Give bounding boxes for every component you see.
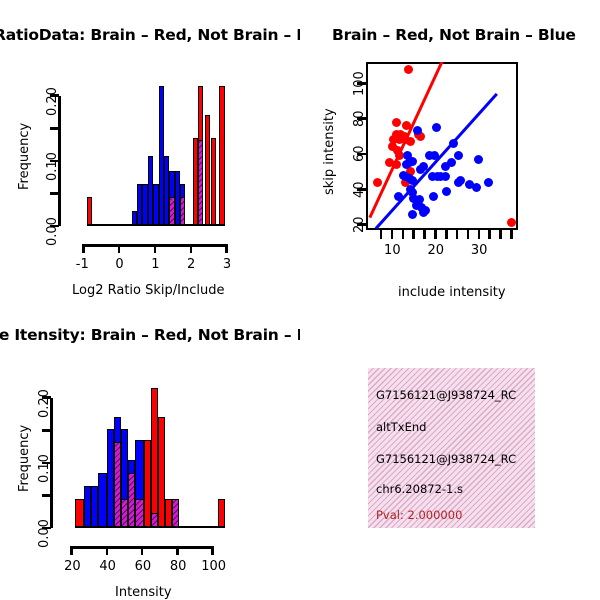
info-line-locus: chr6.20872-1.s [376, 482, 463, 496]
x-axis-tick-label: -1 [76, 257, 89, 272]
scatter-x-axis-tick-label: 20 [427, 243, 444, 258]
histogram-bar [180, 197, 185, 226]
histogram-baseline [75, 526, 225, 528]
scatter-point [447, 158, 456, 167]
histogram-bar [98, 473, 107, 528]
histogram-bar [198, 140, 203, 226]
histogram-bar [84, 486, 91, 528]
scatter-point [442, 187, 451, 196]
scatter-data-layer [366, 62, 518, 230]
x-axis-tick-label: 3 [223, 257, 231, 272]
scatter-y-axis-tick [357, 82, 366, 85]
y-axis-major-tick [50, 225, 59, 228]
info-line-pval: Pval: 2.000000 [376, 508, 462, 522]
info-line-event-type: altTxEnd [376, 420, 426, 434]
scatter-x-axis-tick [391, 230, 394, 239]
histogram-bar [128, 473, 135, 528]
scatter-y-axis-tick [357, 223, 366, 226]
scatter-x-axis-tick [499, 230, 502, 239]
x-axis-tick-label: 60 [135, 559, 152, 574]
histogram-bar [169, 197, 174, 226]
scatter-point [392, 160, 401, 169]
scatter-point [373, 178, 382, 187]
scatter-point [404, 65, 413, 74]
x-axis-tick-label: 1 [151, 257, 159, 272]
scatter-x-axis-tick [423, 230, 426, 239]
scatter-x-axis-tick [467, 230, 470, 239]
x-axis-tick [82, 244, 85, 253]
x-axis-tick [118, 244, 121, 253]
info-line-probe-id-2: G7156121@J938724_RC [376, 452, 516, 466]
scatter-y-axis-tick [357, 153, 366, 156]
histogram-bar [75, 499, 84, 528]
y-axis-major-tick [50, 94, 59, 97]
scatter-x-axis-tick [380, 230, 383, 239]
histogram-bar [144, 440, 151, 528]
y-axis-major-tick [50, 160, 59, 163]
x-axis-tick [190, 244, 193, 253]
annotation-info-box: G7156121@J938724_RC altTxEnd G7156121@J9… [368, 368, 535, 528]
scatter-x-axis-tick-label: 30 [471, 243, 488, 258]
x-axis-tick-label: 80 [170, 559, 187, 574]
scatter-point [392, 118, 401, 127]
scatter-x-axis-tick [488, 230, 491, 239]
scatter-x-axis-tick [510, 230, 513, 239]
y-axis-major-tick [42, 462, 51, 465]
y-axis-major-tick [42, 527, 51, 530]
histogram-bar [107, 429, 114, 528]
histogram-bar [151, 388, 158, 528]
y-axis-minor-tick [42, 494, 51, 497]
histogram-baseline [87, 224, 225, 226]
histogram-bar [158, 417, 165, 528]
histogram-bar [135, 499, 144, 528]
scatter-point [429, 192, 438, 201]
histogram-bar [218, 499, 225, 528]
histogram-bar [219, 86, 224, 226]
histogram-bar [165, 499, 172, 528]
scatter-point [408, 210, 417, 219]
scatter-point [408, 176, 417, 185]
y-axis-major-tick [42, 396, 51, 399]
x-axis-tick-label: 2 [187, 257, 195, 272]
x-axis-tick [154, 244, 157, 253]
scatter-point [507, 218, 516, 227]
scatter-x-axis-tick [456, 230, 459, 239]
scatter-point [395, 151, 404, 160]
ratio-histogram-panel: RatioData: Brain – Red, Not Brain – Blu … [0, 0, 300, 300]
scatter-plot-area: 20406080100102030 [300, 0, 600, 300]
scatter-x-axis-tick [434, 230, 437, 239]
scatter-panel: Brain – Red, Not Brain – Blue skip inten… [300, 0, 600, 300]
x-axis-tick [176, 546, 179, 555]
y-axis-minor-tick [50, 127, 59, 130]
x-axis-tick [141, 546, 144, 555]
histogram-bar [211, 138, 216, 226]
scatter-point [474, 155, 483, 164]
ratio-histogram-plot-area: 0.000.100.20-10123 [0, 0, 300, 300]
y-axis-minor-tick [42, 429, 51, 432]
histogram-bar [121, 499, 128, 528]
scatter-x-axis-tick [445, 230, 448, 239]
scatter-x-axis-tick-label: 10 [384, 243, 401, 258]
scatter-point [472, 183, 481, 192]
histogram-bar [114, 442, 121, 528]
scatter-point [441, 172, 450, 181]
x-axis-tick [211, 546, 214, 555]
scatter-point [406, 137, 415, 146]
scatter-point [484, 178, 493, 187]
scatter-point [394, 192, 403, 201]
scatter-point [456, 176, 465, 185]
x-axis-tick-label: 100 [201, 559, 226, 574]
x-axis-tick [106, 546, 109, 555]
x-axis-tick [70, 546, 73, 555]
histogram-bar [87, 197, 92, 226]
scatter-x-axis-tick [412, 230, 415, 239]
x-axis-tick-label: 40 [99, 559, 116, 574]
scatter-y-axis-tick [357, 188, 366, 191]
scatter-x-axis-tick [402, 230, 405, 239]
scatter-point [419, 208, 428, 217]
scatter-point [432, 123, 441, 132]
x-axis-tick-label: 20 [64, 559, 81, 574]
info-line-probe-id-1: G7156121@J938724_RC [376, 388, 516, 402]
scatter-y-axis-tick [357, 117, 366, 120]
x-axis-tick-label: 0 [115, 257, 123, 272]
histogram-bar [172, 499, 179, 528]
x-axis-tick [225, 244, 228, 253]
scatter-x-axis-tick [478, 230, 481, 239]
intensity-histogram-plot-area: 0.000.100.2020406080100 [0, 300, 300, 600]
scatter-point [454, 151, 463, 160]
intensity-histogram-panel: ne Itensity: Brain – Red, Not Brain – B … [0, 300, 300, 600]
y-axis-minor-tick [50, 192, 59, 195]
scatter-point [449, 139, 458, 148]
histogram-bar [91, 486, 98, 528]
